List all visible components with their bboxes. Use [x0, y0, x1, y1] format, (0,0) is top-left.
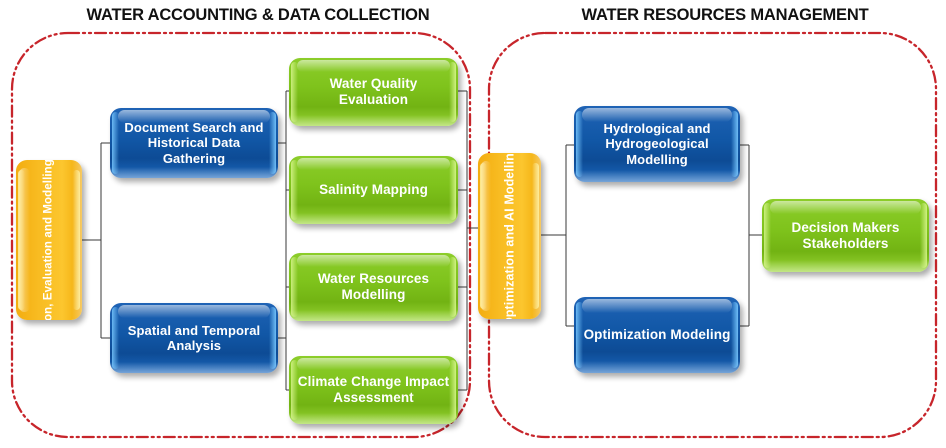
node-label: Water Quality Evaluation [289, 76, 458, 107]
node-salinity-mapping[interactable]: Salinity Mapping [289, 156, 458, 224]
bevel-right [73, 170, 80, 311]
node-spatial-temporal[interactable]: Spatial and Temporal Analysis [110, 303, 278, 373]
node-water-quality[interactable]: Water Quality Evaluation [289, 58, 458, 126]
node-optimization-modeling[interactable]: Optimization Modeling [574, 297, 740, 373]
node-document-search[interactable]: Document Search and Historical Data Gath… [110, 108, 278, 178]
node-hydrological-modelling[interactable]: Hydrological and Hydrogeological Modelli… [574, 106, 740, 182]
node-data-collection[interactable]: Data Collection, Evaluation and Modellin… [16, 160, 82, 320]
node-label: Data Collection, Evaluation and Modellin… [42, 160, 55, 320]
node-label: Spatial and Temporal Analysis [110, 323, 278, 353]
node-optimization-ai[interactable]: Optimization and AI Modelling [478, 153, 541, 319]
node-water-resources-modelling[interactable]: Water Resources Modelling [289, 253, 458, 321]
node-decision-makers[interactable]: Decision Makers Stakeholders [762, 199, 929, 272]
node-climate-change[interactable]: Climate Change Impact Assessment [289, 356, 458, 424]
bevel-right [532, 163, 539, 309]
node-label: Water Resources Modelling [289, 271, 458, 302]
node-label: Climate Change Impact Assessment [289, 374, 458, 405]
node-label: Salinity Mapping [312, 182, 435, 198]
bevel-left [18, 170, 25, 311]
node-label: Hydrological and Hydrogeological Modelli… [574, 121, 740, 166]
flowchart-canvas: WATER ACCOUNTING & DATA COLLECTION WATER… [0, 0, 946, 448]
bevel-right [449, 160, 456, 220]
bevel-left [480, 163, 487, 309]
node-label: Optimization and AI Modelling [502, 153, 517, 319]
bevel-left [291, 160, 298, 220]
node-label: Document Search and Historical Data Gath… [110, 120, 278, 165]
node-label: Decision Makers Stakeholders [762, 220, 929, 251]
node-label: Optimization Modeling [577, 327, 738, 343]
